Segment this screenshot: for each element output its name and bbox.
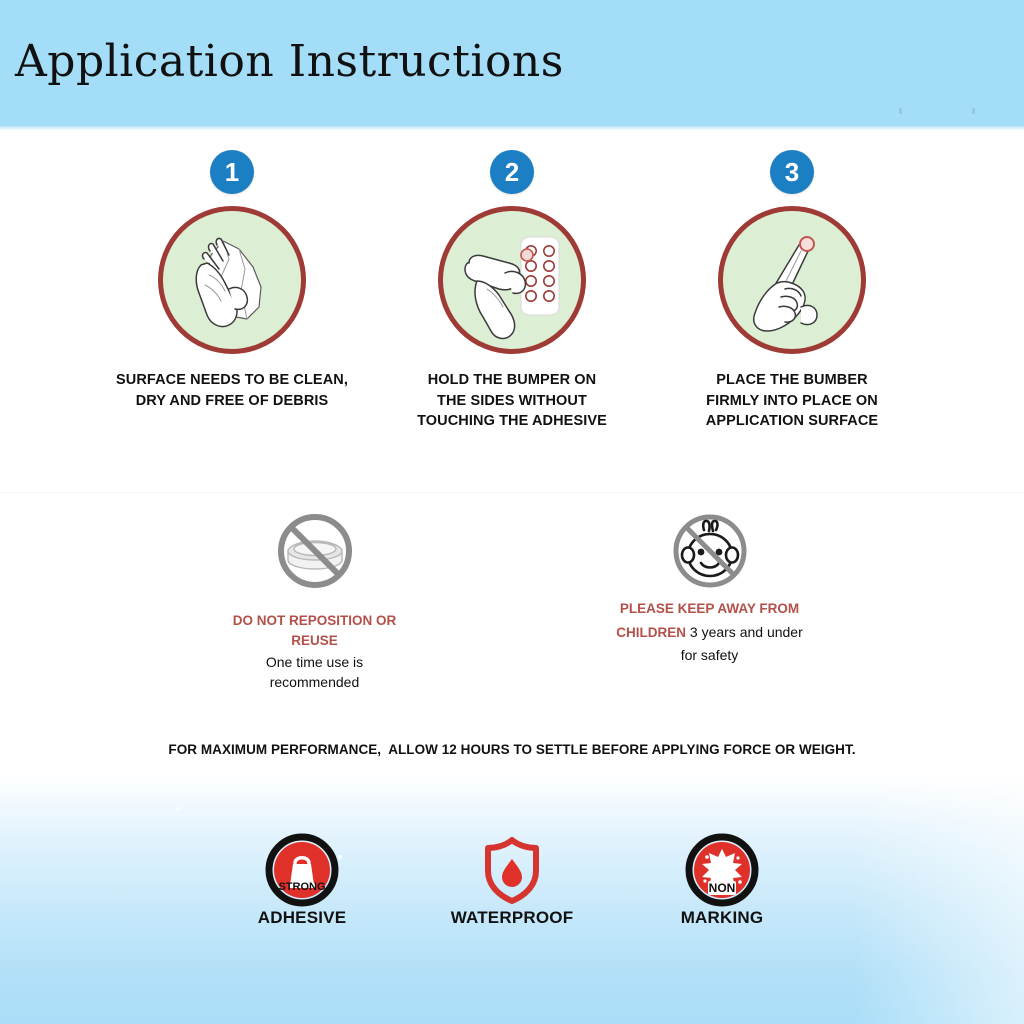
- warning-title-inline: PLEASE KEEP AWAY FROM CHILDREN 3 years a…: [595, 597, 825, 645]
- non-marking-splat-icon: NON: [685, 833, 759, 907]
- step-3: 3: [652, 150, 932, 432]
- strong-adhesive-weight-icon: STRONG: [265, 833, 339, 907]
- feature-label: ADHESIVE: [258, 908, 347, 928]
- step-1: 1: [92, 150, 372, 432]
- no-reposition-icon: [272, 505, 358, 597]
- feature-strong-adhesive: STRONG ADHESIVE: [226, 833, 378, 928]
- step-illustration-circle: [438, 206, 586, 354]
- features-row: STRONG ADHESIVE WATERPROOF: [0, 833, 1024, 928]
- performance-note: FOR MAXIMUM PERFORMANCE, ALLOW 12 HOURS …: [0, 742, 1024, 757]
- step-number-badge: 2: [490, 150, 534, 194]
- header-speck: [972, 108, 975, 114]
- steps-row: 1: [0, 150, 1024, 432]
- step-2: 2: [372, 150, 652, 432]
- step-caption: HOLD THE BUMPER ON THE SIDES WITHOUT TOU…: [417, 370, 607, 432]
- warning-keep-away-children: PLEASE KEEP AWAY FROM CHILDREN 3 years a…: [595, 505, 825, 692]
- warning-title-suffix: 3 years and under: [686, 624, 803, 640]
- warning-title: DO NOT REPOSITION OR REUSE: [233, 611, 397, 652]
- warning-subtitle: for safety: [681, 645, 739, 665]
- section-divider: [0, 492, 1024, 493]
- warnings-row: DO NOT REPOSITION OR REUSE One time use …: [0, 505, 1024, 692]
- gradient-speck: [177, 807, 180, 810]
- step-illustration-circle: [718, 206, 866, 354]
- step-caption: SURFACE NEEDS TO BE CLEAN, DRY AND FREE …: [116, 370, 348, 411]
- feature-label: WATERPROOF: [451, 908, 574, 928]
- header-band: Application Instructions: [0, 0, 1024, 130]
- step-illustration-circle: [158, 206, 306, 354]
- feature-inner-label: STRONG: [278, 881, 325, 893]
- step-number-badge: 1: [210, 150, 254, 194]
- hand-wiping-surface-icon: [163, 211, 301, 349]
- feature-inner-label: NON: [709, 881, 736, 895]
- hand-holding-bumper-sheet-icon: [443, 211, 581, 349]
- header-speck: [899, 108, 902, 114]
- no-children-icon: [667, 505, 753, 597]
- feature-label: MARKING: [681, 908, 764, 928]
- step-caption: PLACE THE BUMBER FIRMLY INTO PLACE ON AP…: [706, 370, 878, 432]
- instruction-sheet: Application Instructions 1: [0, 0, 1024, 1024]
- feature-non-marking: NON MARKING: [646, 833, 798, 928]
- warning-no-reposition: DO NOT REPOSITION OR REUSE One time use …: [200, 505, 430, 692]
- finger-pressing-bumper-icon: [723, 211, 861, 349]
- warning-subtitle: One time use is recommended: [266, 652, 363, 693]
- page-title: Application Instructions: [15, 36, 564, 87]
- feature-waterproof: WATERPROOF: [436, 833, 588, 928]
- waterproof-shield-droplet-icon: [475, 833, 549, 907]
- step-number-badge: 3: [770, 150, 814, 194]
